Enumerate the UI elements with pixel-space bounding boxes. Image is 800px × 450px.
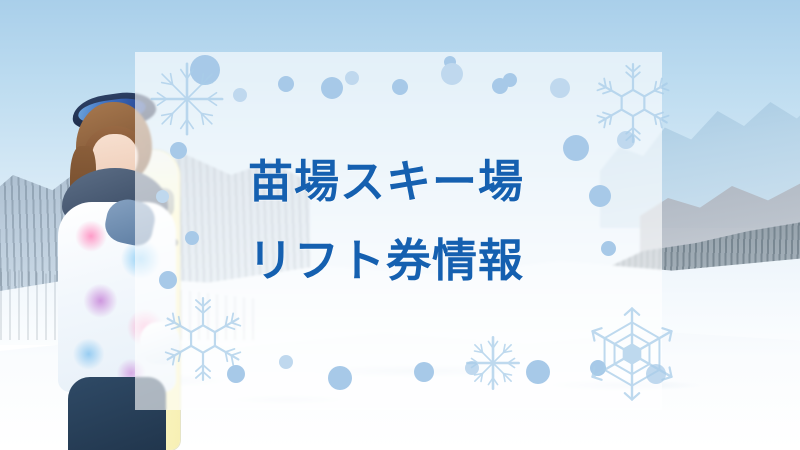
title-line-2: リフト券情報 — [248, 221, 578, 300]
ski-resort-banner: 苗場スキー場 リフト券情報 — [0, 0, 800, 450]
title-line-1: 苗場スキー場 — [248, 155, 524, 208]
page-title: 苗場スキー場 リフト券情報 — [248, 142, 578, 300]
